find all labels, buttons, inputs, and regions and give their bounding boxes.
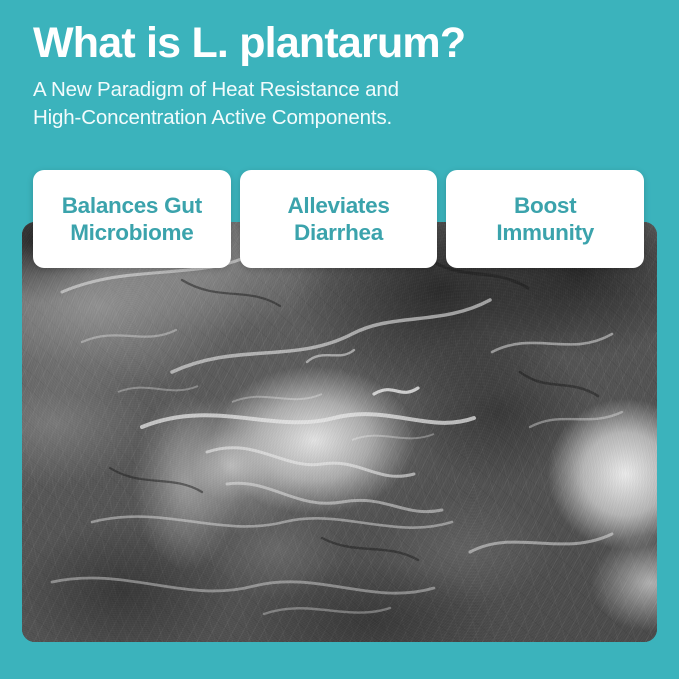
feature-card-alleviates-diarrhea[interactable]: Alleviates Diarrhea <box>240 170 438 268</box>
feature-card-balances-gut-microbiome[interactable]: Balances Gut Microbiome <box>33 170 231 268</box>
page-subtitle-line-2: High-Concentration Active Components. <box>33 104 643 131</box>
feature-card-label: Boost Immunity <box>490 192 600 246</box>
page-title: What is L. plantarum? <box>33 20 643 66</box>
feature-card-label: Alleviates Diarrhea <box>281 192 395 246</box>
infographic-panel: What is L. plantarum? A New Paradigm of … <box>0 0 679 679</box>
page-subtitle: A New Paradigm of Heat Resistance and Hi… <box>33 76 643 131</box>
page-subtitle-line-1: A New Paradigm of Heat Resistance and <box>33 76 643 103</box>
feature-card-boost-immunity[interactable]: Boost Immunity <box>446 170 644 268</box>
header: What is L. plantarum? A New Paradigm of … <box>33 20 643 131</box>
feature-card-label: Balances Gut Microbiome <box>56 192 208 246</box>
sem-grain-overlay <box>22 222 657 642</box>
feature-cards: Balances Gut Microbiome Alleviates Diarr… <box>33 170 644 268</box>
sem-photo-panel <box>22 222 657 642</box>
